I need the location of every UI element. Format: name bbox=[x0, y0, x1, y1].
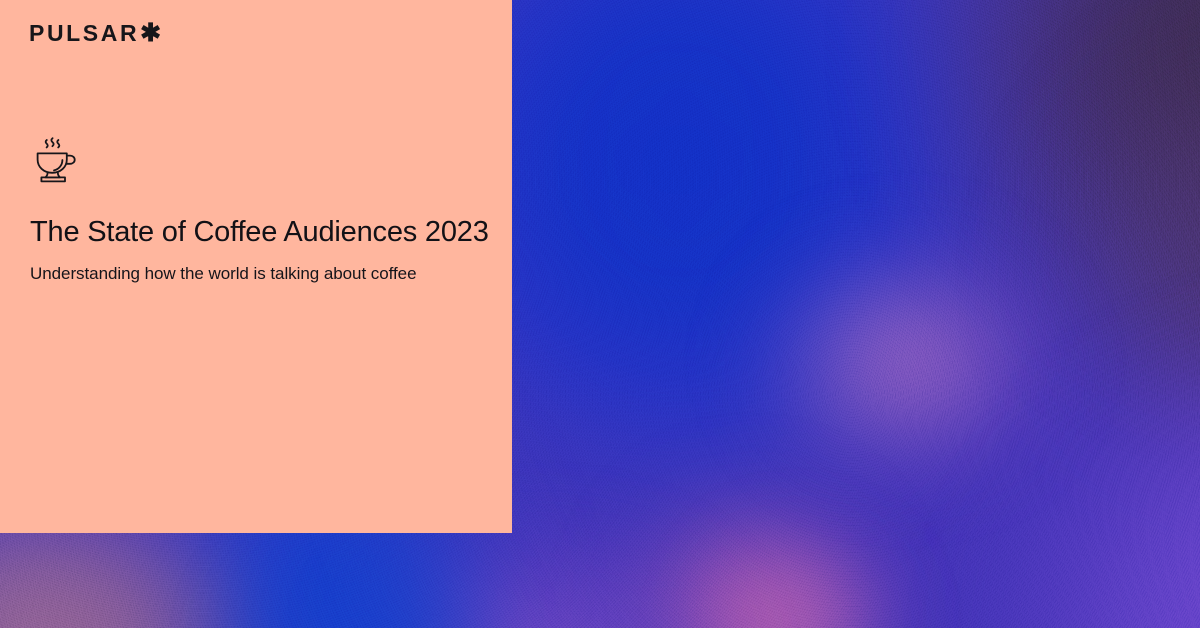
gradient-blob-pink-low bbox=[600, 470, 900, 628]
gradient-blob-pink-mid bbox=[745, 235, 1065, 485]
headline-block: The State of Coffee Audiences 2023 Under… bbox=[30, 216, 500, 286]
gradient-blob-blue-strip bbox=[215, 520, 515, 628]
asterisk-mark-icon: ✱ bbox=[140, 21, 161, 46]
gradient-blob-plum-corner bbox=[900, 0, 1200, 400]
share-card-canvas: PULSAR ✱ bbox=[0, 0, 1200, 628]
gradient-blob-violet-under bbox=[330, 520, 750, 628]
brand-logo[interactable]: PULSAR ✱ bbox=[29, 21, 161, 46]
brand-wordmark: PULSAR bbox=[29, 22, 139, 45]
gradient-blob-pink-low-2 bbox=[690, 520, 910, 628]
coffee-cup-icon bbox=[29, 136, 81, 184]
page-subtitle: Understanding how the world is talking a… bbox=[30, 263, 500, 285]
page-title: The State of Coffee Audiences 2023 bbox=[30, 216, 500, 248]
content-panel: PULSAR ✱ bbox=[0, 0, 512, 533]
gradient-blob-violet-right bbox=[980, 330, 1200, 628]
gradient-blob-plum-right bbox=[1040, 40, 1200, 500]
